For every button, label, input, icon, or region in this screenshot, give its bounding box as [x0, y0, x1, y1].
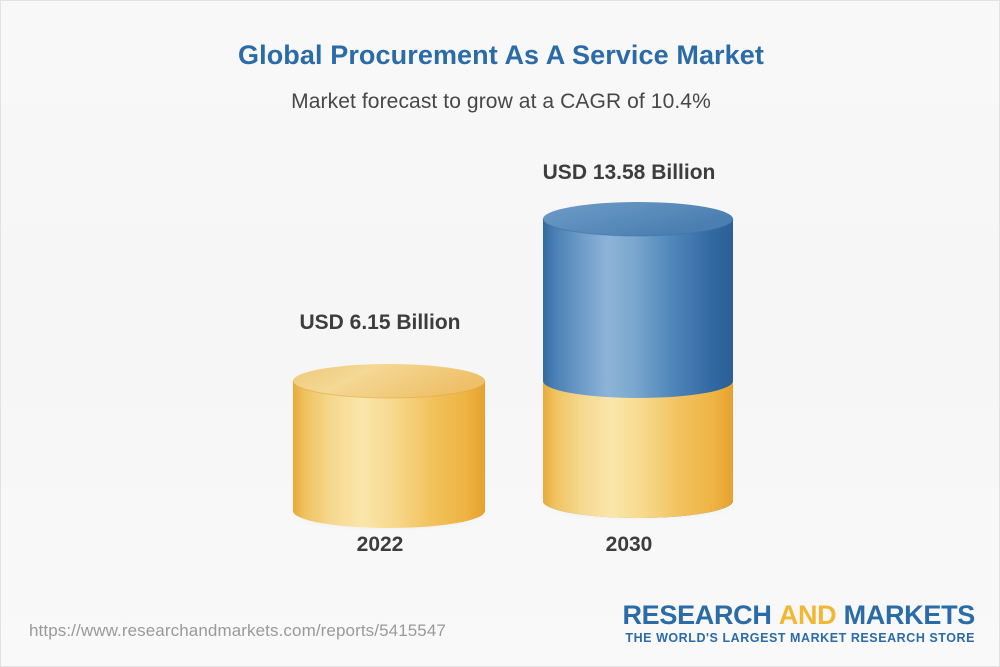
bar-category-label-2022: 2022 — [289, 533, 471, 557]
brand-tagline: THE WORLD'S LARGEST MARKET RESEARCH STOR… — [622, 631, 975, 646]
cylinder-2030-svg — [539, 201, 737, 523]
brand-word-and: AND — [779, 600, 837, 630]
infographic-canvas: Global Procurement As A Service Market M… — [0, 0, 1000, 667]
brand-word-markets: MARKETS — [844, 600, 975, 630]
bar-value-label-2030: USD 13.58 Billion — [539, 161, 719, 185]
brand-word-research: RESEARCH — [622, 600, 771, 630]
bar-cylinder-2022 — [289, 363, 471, 516]
cylinder-2022-svg — [289, 363, 489, 533]
bar-category-label-2030: 2030 — [539, 533, 719, 557]
bar-value-label-2022: USD 6.15 Billion — [289, 311, 471, 335]
brand-wordmark: RESEARCH AND MARKETS — [622, 601, 975, 629]
bar-cylinder-2030 — [539, 201, 719, 506]
brand-logo[interactable]: RESEARCH AND MARKETS THE WORLD'S LARGEST… — [622, 601, 975, 646]
chart-plot-area: USD 6.15 Billion — [1, 1, 1000, 601]
source-url[interactable]: https://www.researchandmarkets.com/repor… — [29, 621, 446, 641]
